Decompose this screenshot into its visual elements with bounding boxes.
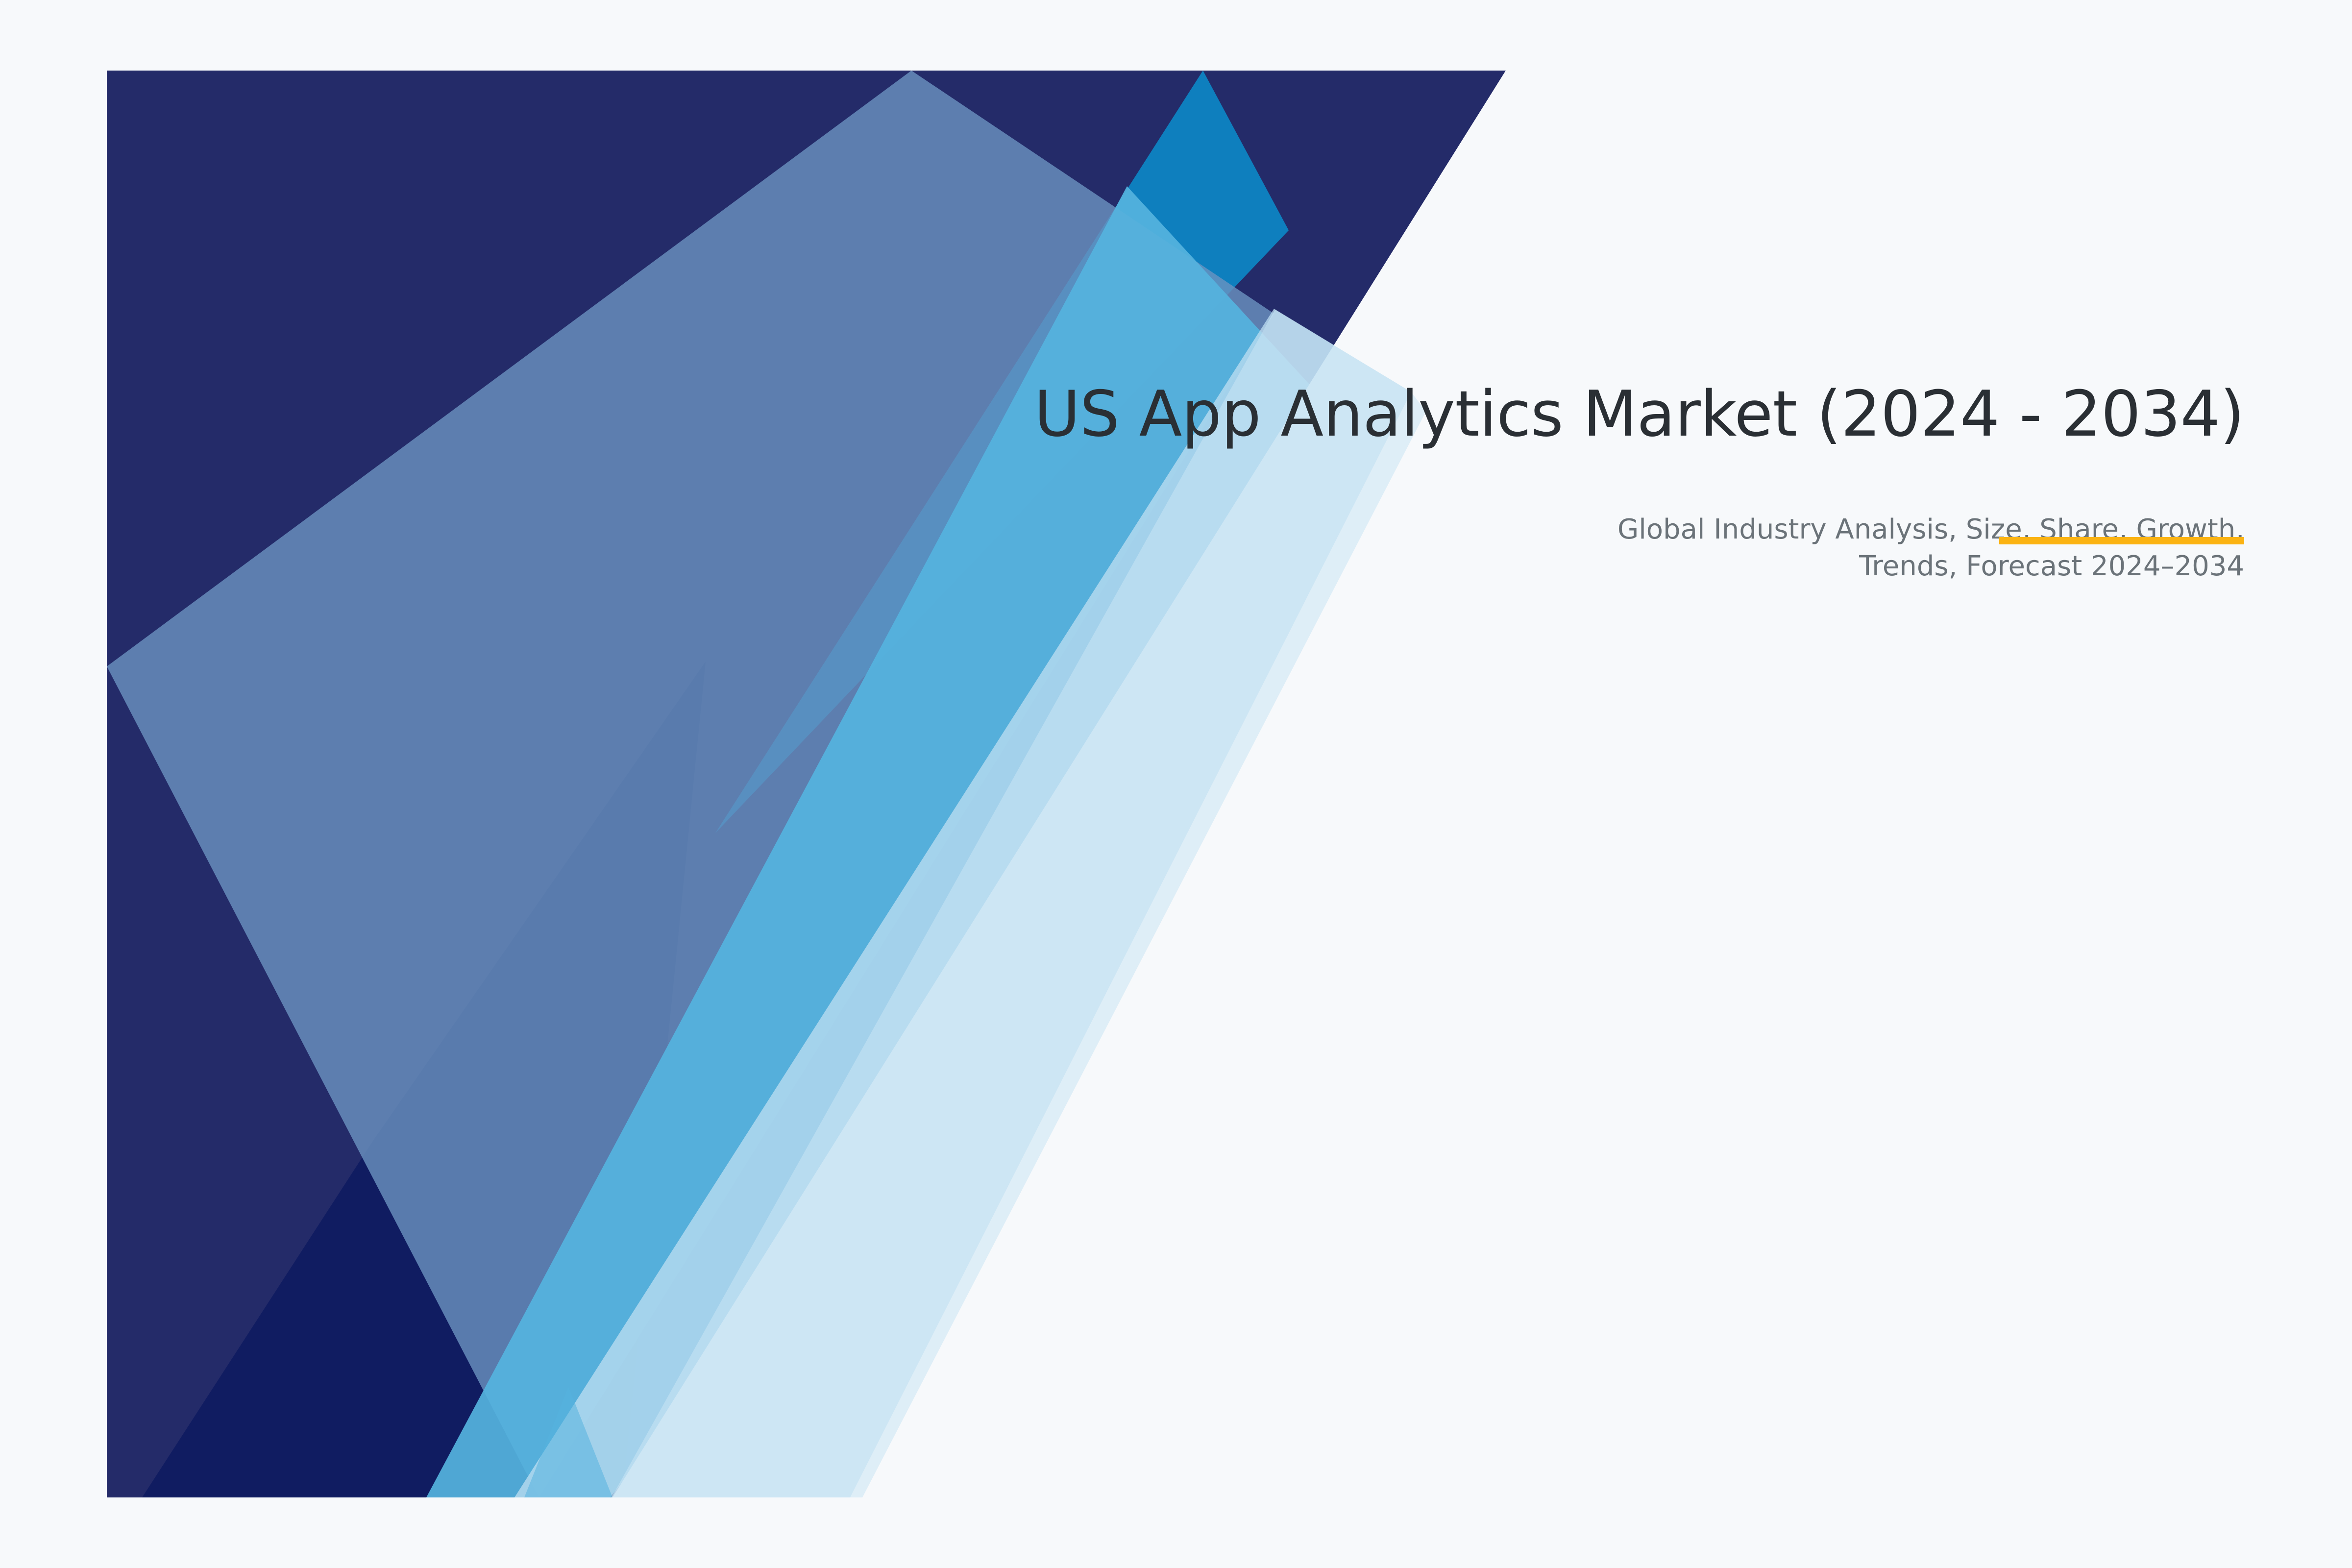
page-subtitle: Global Industry Analysis, Size, Share, G…: [1607, 451, 2244, 585]
cover-text-block: US App Analytics Market (2024 - 2034) Gl…: [980, 377, 2244, 585]
title-wrapper: US App Analytics Market (2024 - 2034): [980, 377, 2244, 451]
report-cover-page: US App Analytics Market (2024 - 2034) Gl…: [0, 0, 2352, 1568]
cover-artwork: [0, 0, 2352, 1568]
accent-underline-rule: [1999, 537, 2244, 544]
page-title: US App Analytics Market (2024 - 2034): [980, 377, 2244, 451]
